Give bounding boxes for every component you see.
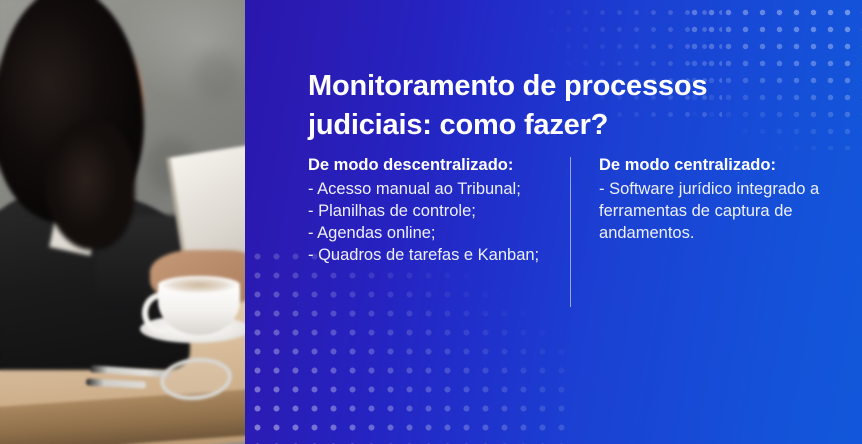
column-centralized-heading: De modo centralizado: xyxy=(599,155,848,177)
slide-canvas: Monitoramento de processos judiciais: co… xyxy=(0,0,862,444)
content-panel: Monitoramento de processos judiciais: co… xyxy=(245,0,862,444)
slide-title: Monitoramento de processos judiciais: co… xyxy=(308,67,828,145)
column-decentralized-heading: De modo descentralizado: xyxy=(308,155,552,177)
column-decentralized-list: - Acesso manual ao Tribunal; - Planilhas… xyxy=(308,178,552,266)
photo-coffee-surface xyxy=(158,276,240,294)
photo-person-hair-strands xyxy=(45,120,135,250)
column-centralized-list: - Software jurídico integrado a ferramen… xyxy=(599,178,848,244)
column-centralized: De modo centralizado: - Software jurídic… xyxy=(571,155,848,307)
hero-photo xyxy=(0,0,246,444)
column-decentralized: De modo descentralizado: - Acesso manual… xyxy=(308,155,570,307)
comparison-columns: De modo descentralizado: - Acesso manual… xyxy=(308,155,848,307)
